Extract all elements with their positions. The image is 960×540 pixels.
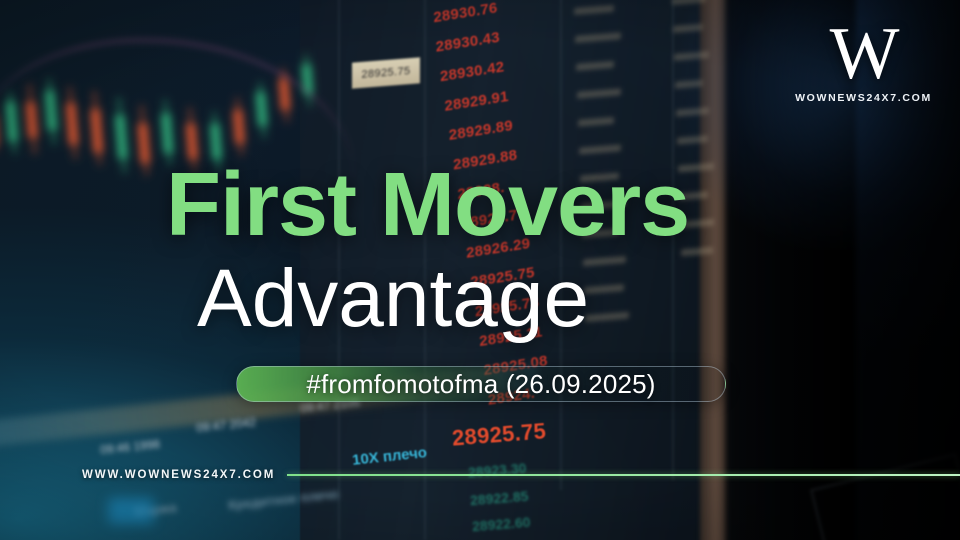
hashtag-badge: #fromfomotofma (26.09.2025) bbox=[236, 366, 726, 402]
hashtag-badge-label: #fromfomotofma (26.09.2025) bbox=[306, 369, 655, 400]
footer-divider-line bbox=[287, 474, 960, 476]
footer-url[interactable]: WWW.WOWNEWS24X7.COM bbox=[82, 469, 275, 481]
promo-banner: 28925.75 28930.76 28930.43 28930.42 2892… bbox=[0, 0, 960, 540]
page-subtitle: Advantage bbox=[197, 258, 589, 340]
cyan-ui-blob bbox=[108, 498, 154, 524]
page-title: First Movers bbox=[166, 160, 689, 250]
brand-logo-text: WOWNEWS24X7.COM bbox=[795, 92, 932, 104]
brand-logo[interactable]: W WOWNEWS24X7.COM bbox=[795, 20, 932, 104]
footer: WWW.WOWNEWS24X7.COM bbox=[82, 469, 960, 481]
price-tag-highlight: 28925.75 bbox=[352, 57, 420, 88]
wownews-w-logo-icon: W bbox=[830, 20, 898, 88]
